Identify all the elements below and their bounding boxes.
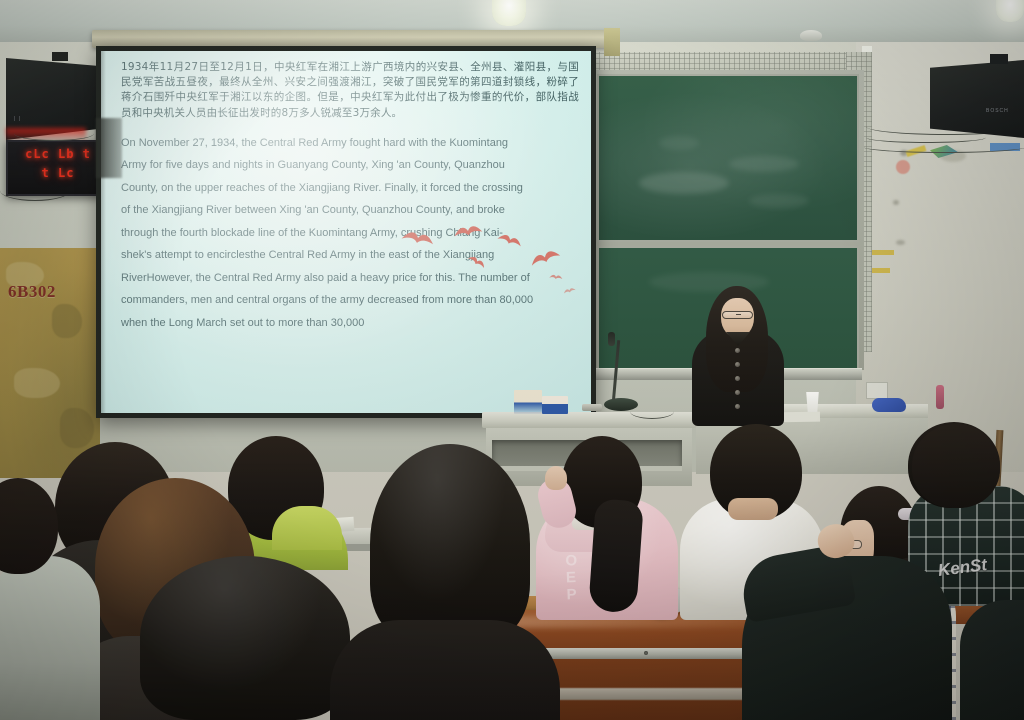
microphone-cable [630, 404, 674, 419]
screen-roller-bracket [604, 28, 620, 56]
student-coat [960, 600, 1024, 720]
screen-edge-shadow [96, 46, 106, 418]
wall-scuff [893, 200, 899, 205]
room-number-sign: 6B302 [8, 282, 56, 302]
wall-wire [862, 140, 1024, 153]
slide-english-line: RiverHowever, the Central Red Army also … [121, 267, 579, 290]
classroom-photo: 6B302 | | BOSCH cLc Lb t t Lc 1934年11月27… [0, 0, 1024, 720]
student-shoulder-accent [272, 506, 342, 550]
eraser [582, 404, 602, 411]
slide-english-line: when the Long March set out to more than… [121, 312, 579, 335]
ceiling-light-right [996, 0, 1024, 22]
coat-button [735, 348, 740, 353]
projection-screen: 1934年11月27日至12月1日，中央红军在湘江上游广西境内的兴安县、全州县、… [101, 51, 591, 413]
slide-chinese-paragraph: 1934年11月27日至12月1日，中央红军在湘江上游广西境内的兴安县、全州县、… [121, 60, 579, 121]
student-head [912, 424, 1000, 508]
screen-occlusion-shadow [96, 118, 122, 178]
speaker-bracket [52, 52, 68, 61]
coat-button [735, 376, 740, 381]
coat-button [735, 404, 740, 409]
speaker-bracket [990, 54, 1008, 64]
student-neck [728, 498, 778, 520]
wall-sticker-pink [896, 160, 910, 174]
slide-english-line: commanders, men and central organs of th… [121, 289, 579, 312]
led-line-2: t Lc [42, 166, 75, 180]
led-wire [14, 126, 94, 141]
slide-content: 1934年11月27日至12月1日，中央红军在湘江上游广西境内的兴安县、全州县、… [121, 60, 579, 334]
student-top [330, 620, 560, 720]
pink-object [936, 385, 944, 409]
slide-english-line: of the Xiangjiang River between Xing 'an… [121, 199, 579, 222]
coat-button [735, 362, 740, 367]
wall-outlet [866, 382, 888, 399]
ceiling-light [492, 0, 526, 26]
student-top [0, 556, 100, 720]
wall-tape-yellow [872, 268, 890, 273]
wall-speaker-right: BOSCH [930, 60, 1024, 138]
led-line-1: cLc Lb t [25, 147, 91, 161]
wall-scuff [896, 240, 905, 245]
student-hand [545, 466, 567, 490]
led-clock-display: cLc Lb t t Lc [6, 140, 110, 196]
slide-english-line: On November 27, 1934, the Central Red Ar… [121, 132, 579, 155]
chalk-box [542, 396, 568, 414]
microphone-head-icon [608, 332, 615, 346]
student-head [140, 556, 350, 720]
chalkboard-upper-panel [597, 74, 859, 242]
slide-english-line: Army for five days and nights in Guanyan… [121, 154, 579, 177]
student-head [370, 444, 530, 644]
ponytail [588, 498, 644, 613]
chalk-box [514, 390, 542, 414]
coat-button [735, 390, 740, 395]
slide-english-line: County, on the upper reaches of the Xian… [121, 177, 579, 200]
wall-tape-yellow [872, 250, 894, 255]
glasses-bridge [736, 314, 741, 315]
blue-cloth-item [872, 398, 906, 412]
smoke-detector-icon [800, 30, 822, 41]
